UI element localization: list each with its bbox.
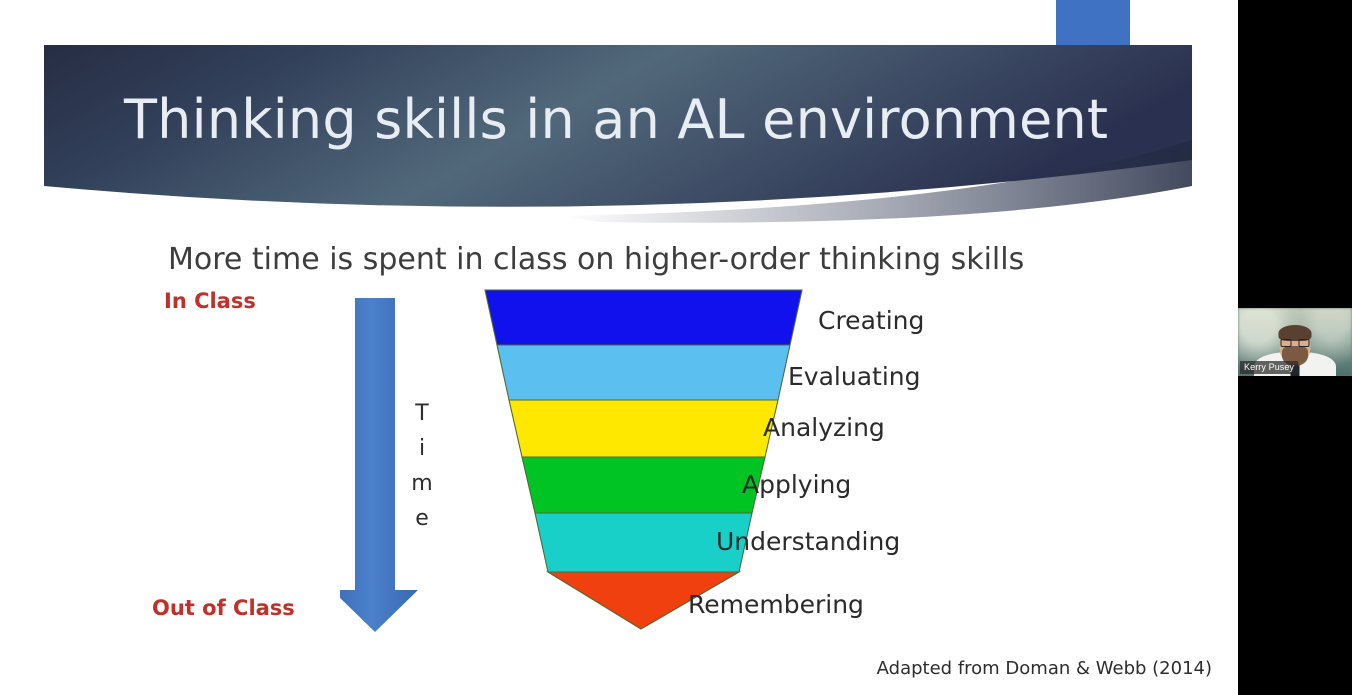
label-out-of-class: Out of Class [152,596,295,620]
glasses-lens-left [1281,339,1292,347]
presentation-slide: Thinking skills in an AL environment Mor… [0,0,1238,695]
slide-title-banner: Thinking skills in an AL environment [0,0,1238,235]
funnel-band-analyzing [509,400,778,457]
time-letter: m [405,466,439,501]
bloom-taxonomy-funnel [478,284,818,636]
glasses-lens-right [1299,339,1310,347]
participant-name-label: Kerry Pusey [1240,361,1298,374]
funnel-band-applying [522,457,765,513]
source-attribution: Adapted from Doman & Webb (2014) [877,658,1212,679]
time-letter: e [405,501,439,536]
label-in-class: In Class [164,289,256,313]
time-letter: T [405,396,439,431]
slide-subtitle: More time is spent in class on higher-or… [168,242,1024,277]
funnel-band-evaluating [497,345,790,400]
funnel-label-understanding: Understanding [716,527,900,556]
page-title: Thinking skills in an AL environment [124,88,1124,151]
funnel-label-evaluating: Evaluating [788,362,920,391]
screen-share-view: Thinking skills in an AL environment Mor… [0,0,1352,695]
time-letter: i [405,431,439,466]
funnel-band-creating [485,290,802,345]
funnel-label-analyzing: Analyzing [763,413,885,442]
participant-video-tile[interactable]: Kerry Pusey [1238,308,1352,376]
time-axis-label: T i m e [405,396,439,536]
funnel-label-remembering: Remembering [688,590,864,619]
funnel-label-creating: Creating [818,306,924,335]
participant-glasses [1281,339,1310,347]
funnel-label-applying: Applying [742,470,851,499]
